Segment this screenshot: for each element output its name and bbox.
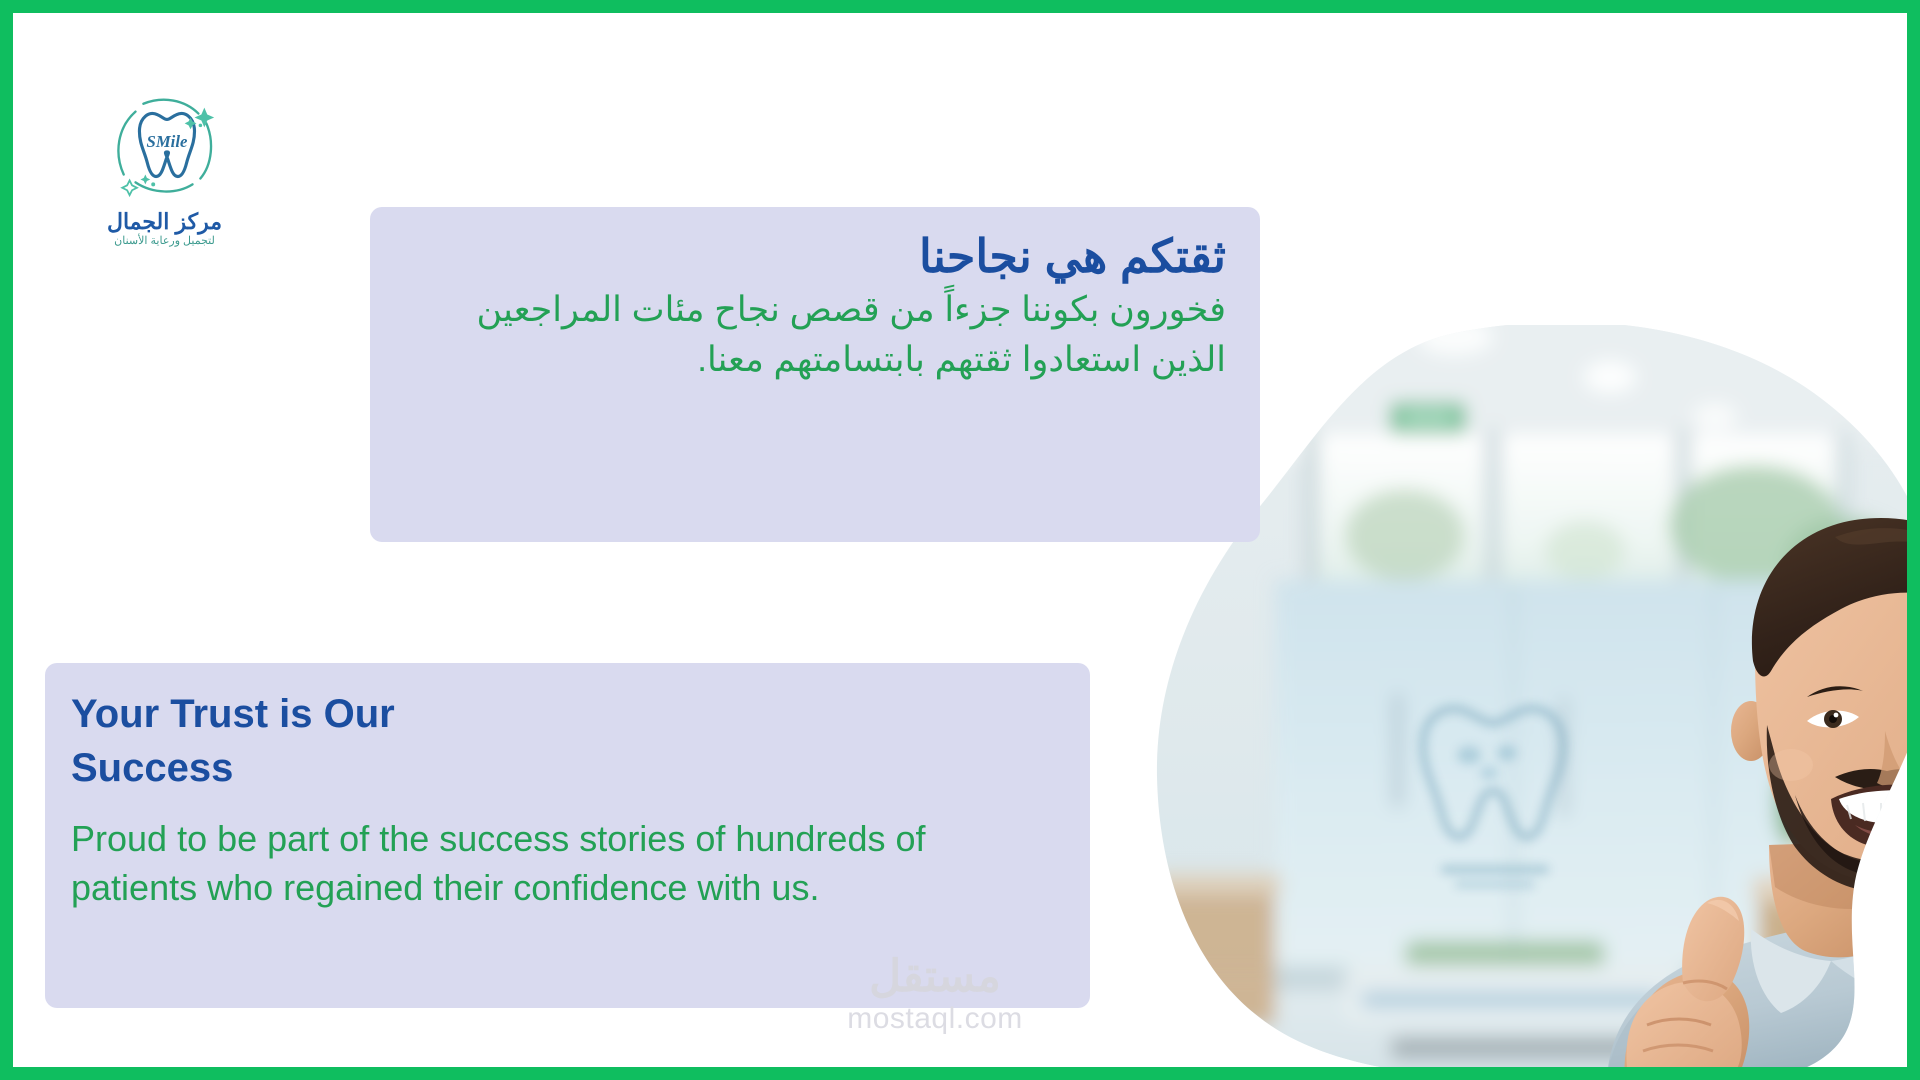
clinic-logo: SMile مركز الجمال لتجميل ورعاية الأسنان	[92, 88, 237, 247]
svg-text:SMile: SMile	[146, 132, 187, 151]
logo-wordmark: مركز الجمال	[92, 210, 237, 234]
photo-blob-svg	[1155, 325, 1920, 1080]
tooth-smile-logo-icon: SMile	[106, 88, 224, 206]
english-body-text: Proud to be part of the success stories …	[71, 814, 931, 913]
slide-canvas: SMile مركز الجمال لتجميل ورعاية الأسنان …	[0, 0, 1920, 1080]
logo-tagline: لتجميل ورعاية الأسنان	[92, 235, 237, 247]
smiling-patient-thumbs-up-photo	[1155, 325, 1920, 1080]
arabic-body-text: فخورون بكوننا جزءاً من قصص نجاح مئات الم…	[404, 285, 1226, 384]
english-heading: Your Trust is Our Success	[71, 687, 501, 796]
arabic-testimonial-card: ثقتكم هي نجاحنا فخورون بكوننا جزءاً من ق…	[370, 207, 1260, 542]
english-testimonial-card: Your Trust is Our Success Proud to be pa…	[45, 663, 1090, 1008]
arabic-heading: ثقتكم هي نجاحنا	[404, 229, 1226, 283]
